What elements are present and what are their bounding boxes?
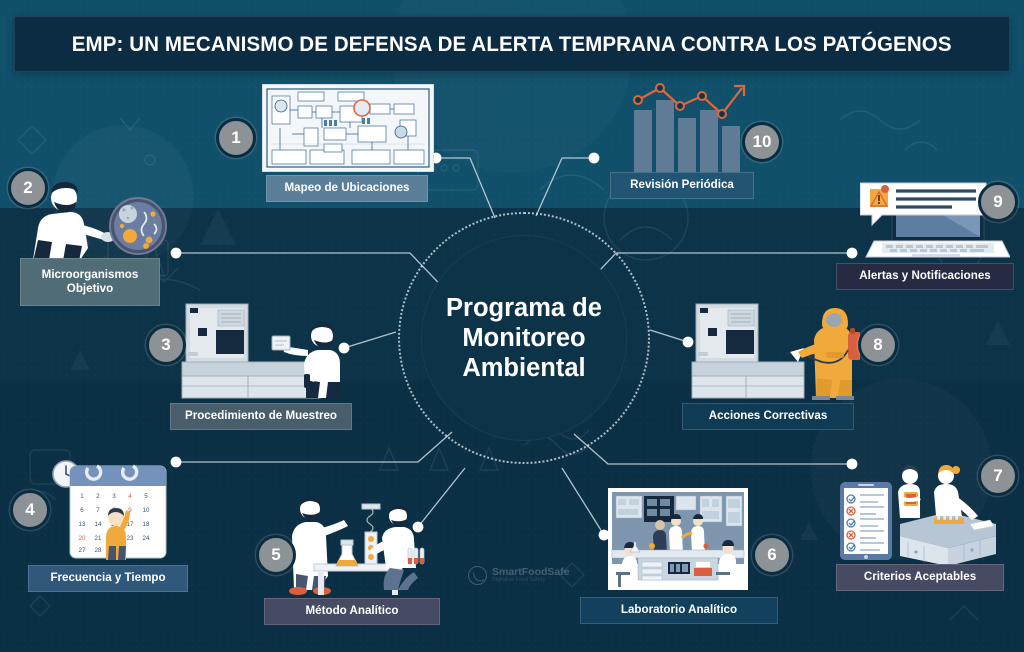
infographic-canvas: EMP: UN MECANISMO DE DEFENSA DE ALERTA T… [0,0,1024,652]
svg-text:6: 6 [80,507,84,514]
watermark-text: SmartFoodSafe Digitalize Food Safety [492,567,570,583]
step-badge-1[interactable]: 1 [216,118,256,158]
step-label-7: Criterios Aceptables [836,564,1004,591]
calendar-clock-icon: 123 45 678 910 131415 1718 2021 222324 2… [50,452,170,562]
step-label-6: Laboratorio Analítico [580,597,778,624]
step-label-2: Microorganismos Objetivo [20,258,160,306]
step-badge-9[interactable]: 9 [978,182,1018,222]
svg-text:13: 13 [79,521,86,528]
watermark-tagline: Digitalize Food Safety [492,578,570,583]
step-badge-8[interactable]: 8 [858,325,898,365]
svg-text:10: 10 [143,507,150,514]
svg-text:1: 1 [80,493,84,500]
step-label-10: Revisión Periódica [610,172,754,199]
svg-text:21: 21 [95,535,102,542]
facility-map-icon [262,84,434,172]
page-title: EMP: UN MECANISMO DE DEFENSA DE ALERTA T… [72,32,952,57]
step-label-9: Alertas y Notificaciones [836,263,1014,290]
laboratory-room-icon [608,488,748,590]
step-label-5: Método Analítico [264,598,440,625]
svg-text:7: 7 [96,507,100,514]
svg-text:23: 23 [127,535,134,542]
step-badge-7[interactable]: 7 [978,456,1018,496]
step-label-4: Frecuencia y Tiempo [28,565,188,592]
step-badge-4[interactable]: 4 [10,490,50,530]
svg-text:14: 14 [95,521,102,528]
svg-text:3: 3 [112,493,116,500]
step-badge-10[interactable]: 10 [742,122,782,162]
checklist-clipboard-icon [838,462,996,570]
svg-text:20: 20 [79,535,86,542]
svg-text:27: 27 [79,547,86,554]
svg-text:18: 18 [143,521,150,528]
sampling-equipment-icon [178,300,348,400]
smartfoodsafe-logo-icon [468,566,487,585]
watermark: SmartFoodSafe Digitalize Food Safety [468,560,576,590]
svg-text:28: 28 [95,547,102,554]
step-label-1: Mapeo de Ubicaciones [266,175,428,202]
hub-title: Programa de Monitoreo Ambiental [446,293,602,383]
step-label-8: Acciones Correctivas [682,403,854,430]
lab-bench-icon [282,490,427,598]
hub-circle: Programa de Monitoreo Ambiental [421,235,627,441]
svg-text:24: 24 [143,535,150,542]
svg-text:4: 4 [128,493,132,500]
step-badge-2[interactable]: 2 [8,168,48,208]
step-label-3: Procedimiento de Muestreo [170,403,352,430]
bar-chart-trend-icon [630,82,750,178]
sanitation-worker-icon [690,300,860,400]
svg-text:5: 5 [144,493,148,500]
step-badge-5[interactable]: 5 [256,535,296,575]
header-bar: EMP: UN MECANISMO DE DEFENSA DE ALERTA T… [14,16,1010,72]
step-badge-3[interactable]: 3 [146,325,186,365]
step-badge-6[interactable]: 6 [752,535,792,575]
svg-text:2: 2 [96,493,100,500]
